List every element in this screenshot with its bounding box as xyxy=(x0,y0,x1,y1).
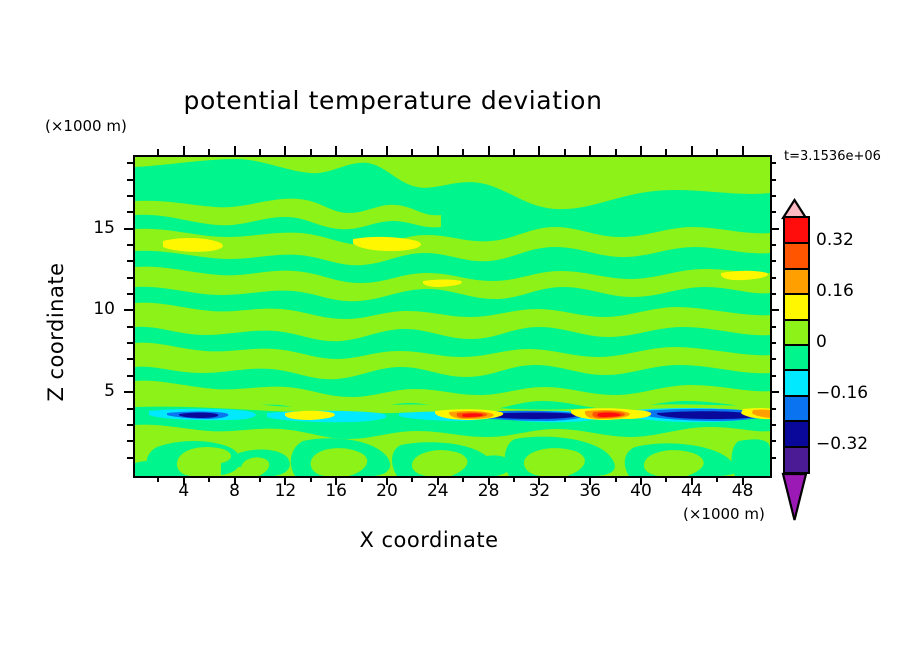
x-tick-top xyxy=(259,149,261,155)
y-tick-right xyxy=(770,440,776,442)
y-tick xyxy=(127,211,133,213)
colorbar-band xyxy=(785,396,808,421)
y-tick xyxy=(127,408,133,410)
y-tick-label: 5 xyxy=(75,381,115,401)
y-axis-title: Z coordinate xyxy=(44,232,68,432)
colorbar-band xyxy=(785,269,808,294)
colorbar-band-divider xyxy=(785,369,808,371)
time-annotation: t=3.1536e+06 xyxy=(784,149,881,164)
colorbar-band xyxy=(785,421,808,446)
y-tick xyxy=(127,277,133,279)
x-tick-top xyxy=(234,146,236,155)
y-tick-right xyxy=(770,375,776,377)
y-tick-right xyxy=(770,326,776,328)
x-tick-top xyxy=(310,149,312,155)
colorbar-band-divider xyxy=(785,446,808,448)
colorbar-band-divider xyxy=(785,319,808,321)
y-tick-right xyxy=(770,309,779,311)
y-tick-right xyxy=(770,391,779,393)
x-tick-top xyxy=(538,146,540,155)
colorbar-tick-label: 0.16 xyxy=(816,281,854,301)
y-tick xyxy=(127,457,133,459)
x-tick-top xyxy=(589,146,591,155)
x-tick-top xyxy=(665,149,667,155)
x-tick-top xyxy=(615,149,617,155)
y-tick xyxy=(127,342,133,344)
y-tick xyxy=(127,244,133,246)
y-tick xyxy=(124,309,133,311)
y-tick-right xyxy=(770,228,779,230)
y-tick-right xyxy=(770,424,776,426)
x-tick-top xyxy=(183,146,185,155)
x-tick-top xyxy=(157,149,159,155)
y-tick xyxy=(124,391,133,393)
chart-title: potential temperature deviation xyxy=(0,86,904,115)
x-tick-top xyxy=(411,149,413,155)
y-tick xyxy=(127,326,133,328)
y-tick-label: 15 xyxy=(75,218,115,238)
y-tick xyxy=(127,375,133,377)
x-tick-top xyxy=(361,149,363,155)
y-tick xyxy=(127,195,133,197)
colorbar-band xyxy=(785,370,808,395)
y-tick-right xyxy=(770,408,776,410)
x-tick-top xyxy=(462,149,464,155)
colorbar-band-divider xyxy=(785,344,808,346)
x-tick-top xyxy=(386,146,388,155)
colorbar-band-divider xyxy=(785,293,808,295)
y-axis-unit-label: (×1000 m) xyxy=(45,117,127,135)
contour-field xyxy=(135,157,770,476)
y-tick xyxy=(127,179,133,181)
colorbar-band xyxy=(785,294,808,319)
x-tick-top xyxy=(742,146,744,155)
y-tick-right xyxy=(770,162,776,164)
y-tick xyxy=(127,162,133,164)
y-tick-right xyxy=(770,457,776,459)
colorbar-band-divider xyxy=(785,395,808,397)
x-tick-top xyxy=(513,149,515,155)
y-tick xyxy=(127,293,133,295)
figure-canvas: potential temperature deviation (×1000 m… xyxy=(0,0,904,654)
y-tick-right xyxy=(770,277,776,279)
x-tick-top xyxy=(716,149,718,155)
y-tick xyxy=(127,440,133,442)
x-tick-top xyxy=(488,146,490,155)
colorbar-band xyxy=(785,243,808,268)
x-tick-top xyxy=(208,149,210,155)
x-tick-top xyxy=(335,146,337,155)
colorbar-tick-label: −0.16 xyxy=(816,383,868,403)
x-tick-top xyxy=(640,146,642,155)
x-tick-top xyxy=(564,149,566,155)
y-tick-right xyxy=(770,358,776,360)
y-tick-label: 10 xyxy=(75,299,115,319)
colorbar-band xyxy=(785,218,808,243)
y-tick xyxy=(124,228,133,230)
x-axis-title: X coordinate xyxy=(0,528,904,552)
y-tick xyxy=(127,260,133,262)
colorbar-band xyxy=(785,320,808,345)
y-tick-right xyxy=(770,179,776,181)
x-tick-label: 48 xyxy=(713,481,773,501)
y-tick-right xyxy=(770,260,776,262)
y-tick-right xyxy=(770,195,776,197)
colorbar-tick-label: 0 xyxy=(816,332,827,352)
y-tick-right xyxy=(770,342,776,344)
x-tick-top xyxy=(284,146,286,155)
x-axis-unit-label: (×1000 m) xyxy=(683,505,765,523)
y-tick xyxy=(127,358,133,360)
colorbar-band xyxy=(785,447,808,472)
y-tick-right xyxy=(770,293,776,295)
x-tick-top xyxy=(691,146,693,155)
colorbar-band xyxy=(785,345,808,370)
colorbar-under-arrow xyxy=(783,474,806,520)
y-tick xyxy=(127,424,133,426)
contour-plot-area xyxy=(133,155,772,478)
colorbar-band-divider xyxy=(785,420,808,422)
x-tick-top xyxy=(437,146,439,155)
colorbar-bands xyxy=(783,216,810,474)
y-tick-right xyxy=(770,211,776,213)
colorbar-band-divider xyxy=(785,268,808,270)
colorbar-tick-label: −0.32 xyxy=(816,434,868,454)
y-tick-right xyxy=(770,244,776,246)
colorbar-tick-label: 0.32 xyxy=(816,230,854,250)
colorbar-band-divider xyxy=(785,242,808,244)
